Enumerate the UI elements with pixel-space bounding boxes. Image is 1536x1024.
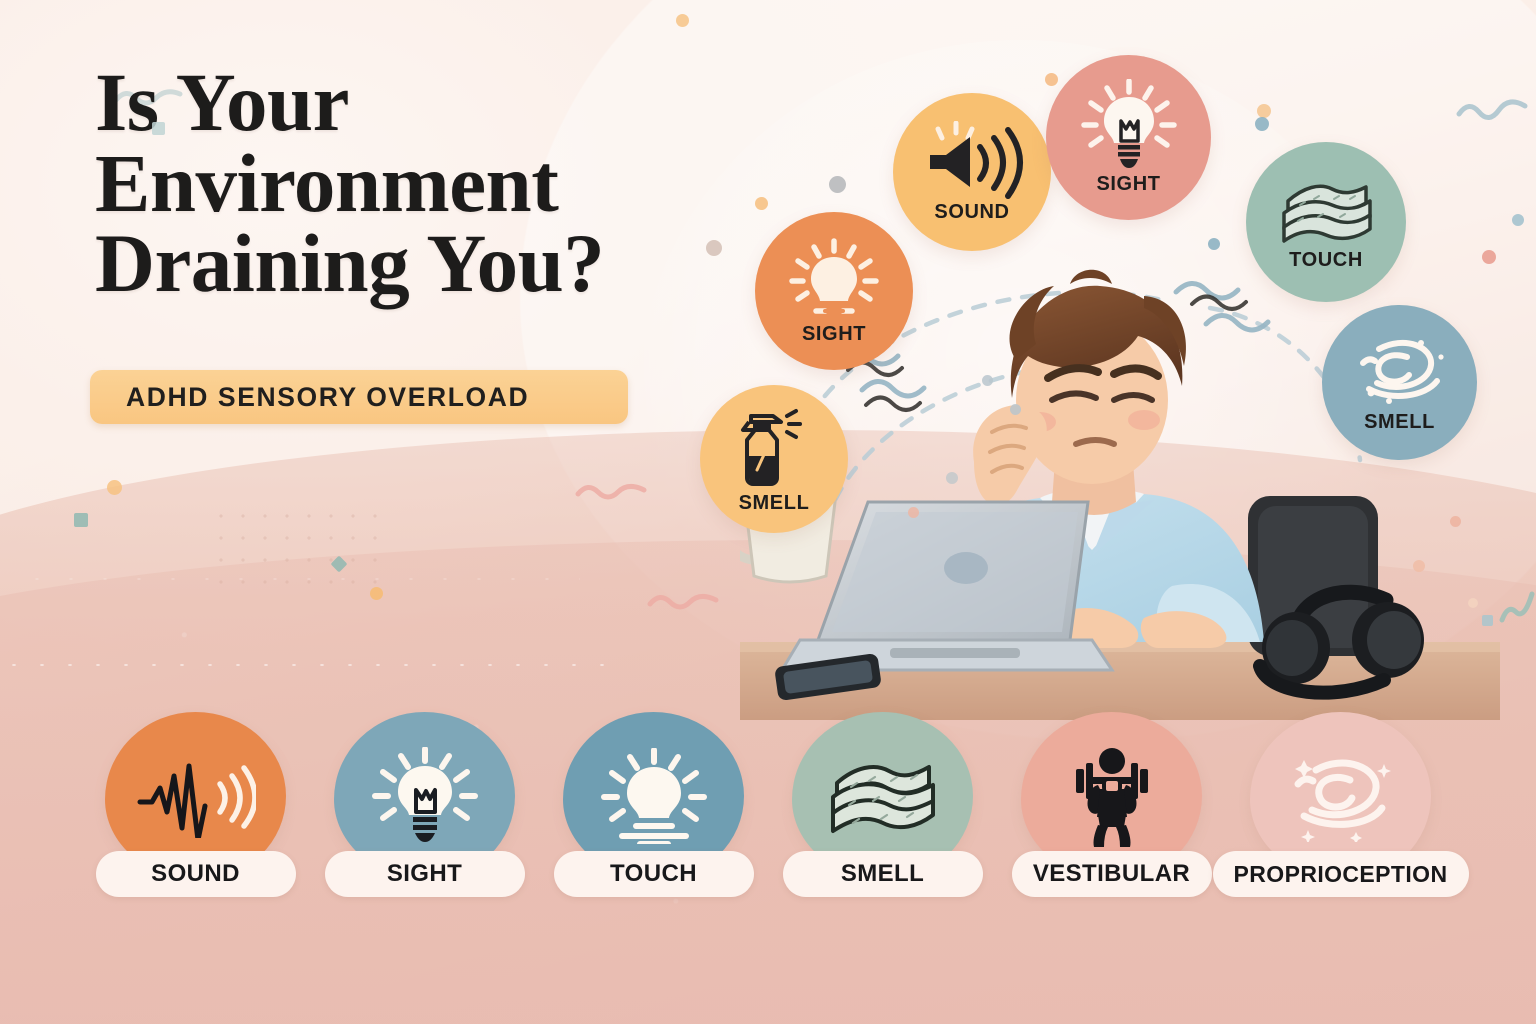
speaker-waves-icon — [920, 121, 1024, 199]
confetti-dot — [706, 240, 722, 256]
bubble-sight-salmon[interactable]: SIGHT — [1046, 55, 1211, 220]
confetti-dot — [755, 197, 768, 210]
confetti-dot — [982, 375, 993, 386]
confetti-dot — [1208, 238, 1220, 250]
title-line-2: Environment — [95, 143, 715, 224]
badge-label: ADHD SENSORY OVERLOAD — [126, 382, 529, 413]
confetti-dot — [1255, 117, 1269, 131]
confetti-sq — [74, 513, 88, 527]
decorative-dot-line — [0, 660, 620, 670]
confetti-dot — [1468, 598, 1478, 608]
confetti-dot — [1045, 73, 1058, 86]
sense-label: TOUCH — [554, 851, 754, 897]
waveform-sound-icon — [136, 754, 256, 838]
weightlifter-icon — [1058, 745, 1166, 847]
sense-item-proprioception[interactable]: PROPRIOCEPTION — [1249, 712, 1432, 897]
spray-bottle-icon — [731, 404, 817, 490]
sense-label: SMELL — [783, 851, 983, 897]
confetti-dot — [908, 507, 919, 518]
confetti-dot — [1257, 104, 1271, 118]
sense-label: VESTIBULAR — [1012, 851, 1212, 897]
sense-item-sound[interactable]: SOUND — [104, 712, 287, 897]
sense-label: SOUND — [96, 851, 296, 897]
confetti-dot — [1413, 560, 1425, 572]
bubble-label: SMELL — [1364, 411, 1435, 434]
squiggle-icon — [1455, 96, 1533, 124]
confetti-dot — [1450, 516, 1461, 527]
swirl-icon — [1349, 331, 1451, 409]
sense-item-smell[interactable]: SMELL — [791, 712, 974, 897]
confetti-dot — [370, 587, 383, 600]
infographic-canvas: Is Your Environment Draining You? ADHD S… — [0, 0, 1536, 1024]
decorative-dot-line-2 — [20, 575, 580, 583]
bubble-smell-swirl[interactable]: SMELL — [1322, 305, 1477, 460]
squiggle-icon — [646, 588, 726, 614]
sense-item-vestibular[interactable]: VESTIBULAR — [1020, 712, 1203, 897]
sense-row: SOUND SIGHT — [0, 712, 1536, 897]
bubble-label: SOUND — [934, 201, 1009, 224]
confetti-sq — [152, 122, 165, 135]
squiggle-icon — [574, 478, 654, 504]
confetti-sq — [1482, 615, 1493, 626]
bubble-touch[interactable]: TOUCH — [1246, 142, 1406, 302]
bubble-smell-spray[interactable]: SMELL — [700, 385, 848, 533]
bubble-label: SMELL — [739, 492, 810, 515]
folded-blanket-icon — [823, 753, 943, 839]
confetti-dot — [1512, 214, 1524, 226]
sense-label: SIGHT — [325, 851, 525, 897]
confetti-dot — [946, 472, 958, 484]
sense-item-sight[interactable]: SIGHT — [333, 712, 516, 897]
subtitle-badge: ADHD SENSORY OVERLOAD — [90, 370, 628, 424]
lightbulb-lines-icon — [600, 748, 708, 844]
sense-item-touch[interactable]: TOUCH — [562, 712, 745, 897]
bubble-label: SIGHT — [802, 323, 866, 346]
bubble-sight-orange[interactable]: SIGHT — [755, 212, 913, 370]
bubble-label: TOUCH — [1289, 249, 1363, 272]
confetti-dot — [829, 176, 846, 193]
title-line-3: Draining You? — [95, 223, 715, 304]
confetti-dot — [676, 14, 689, 27]
folded-blanket-icon — [1274, 173, 1378, 247]
bubble-label: SIGHT — [1096, 173, 1160, 196]
lightbulb-filament-icon — [1079, 79, 1179, 171]
title-line-1: Is Your — [95, 62, 715, 143]
confetti-dot — [107, 480, 122, 495]
squiggle-icon — [1496, 586, 1536, 626]
page-title: Is Your Environment Draining You? — [95, 62, 715, 304]
lightbulb-rays-icon — [786, 237, 882, 321]
confetti-dot — [1010, 404, 1021, 415]
confetti-dot — [1482, 250, 1496, 264]
bubble-sound[interactable]: SOUND — [893, 93, 1051, 251]
spiral-swirl-icon — [1282, 750, 1400, 842]
sense-label: PROPRIOCEPTION — [1213, 851, 1469, 897]
lightbulb-icon — [371, 747, 479, 845]
